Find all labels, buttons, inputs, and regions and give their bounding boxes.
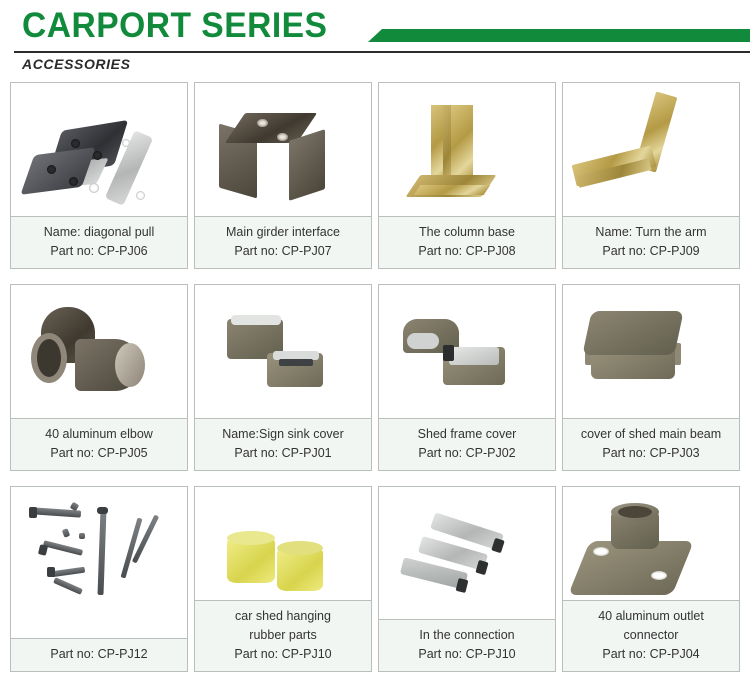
product-caption: Name:Sign sink cover Part no: CP-PJ01 [195, 419, 371, 470]
product-caption: 40 aluminum elbow Part no: CP-PJ05 [11, 419, 187, 470]
product-caption: Main girder interface Part no: CP-PJ07 [195, 217, 371, 268]
product-row: 40 aluminum elbow Part no: CP-PJ05 Name:… [0, 284, 750, 471]
product-part-no: Part no: CP-PJ03 [567, 444, 735, 463]
product-image-in-the-connection [379, 487, 555, 620]
product-name: Shed frame cover [383, 425, 551, 444]
product-image-aluminum-elbow [11, 285, 187, 419]
product-caption: Shed frame cover Part no: CP-PJ02 [379, 419, 555, 470]
header-divider [14, 51, 750, 53]
product-image-shed-frame-cover [379, 285, 555, 419]
product-caption: 40 aluminum outlet connector Part no: CP… [563, 601, 739, 671]
product-part-no: Part no: CP-PJ10 [383, 645, 551, 664]
product-card-shed-frame-cover[interactable]: Shed frame cover Part no: CP-PJ02 [378, 284, 556, 471]
product-image-turn-the-arm [563, 83, 739, 217]
product-part-no: Part no: CP-PJ10 [199, 645, 367, 664]
product-part-no: Part no: CP-PJ06 [15, 242, 183, 261]
product-name: 40 aluminum elbow [15, 425, 183, 444]
product-image-main-girder-interface [195, 83, 371, 217]
product-caption: cover of shed main beam Part no: CP-PJ03 [563, 419, 739, 470]
product-grid: Name: diagonal pull Part no: CP-PJ06 Mai… [0, 82, 750, 687]
product-card-sign-sink-cover[interactable]: Name:Sign sink cover Part no: CP-PJ01 [194, 284, 372, 471]
section-label: ACCESSORIES [22, 55, 131, 73]
product-caption: car shed hanging rubber parts Part no: C… [195, 601, 371, 671]
product-card-aluminum-elbow[interactable]: 40 aluminum elbow Part no: CP-PJ05 [10, 284, 188, 471]
product-card-diagonal-pull[interactable]: Name: diagonal pull Part no: CP-PJ06 [10, 82, 188, 269]
product-part-no: Part no: CP-PJ08 [383, 242, 551, 261]
product-caption: Name: diagonal pull Part no: CP-PJ06 [11, 217, 187, 268]
product-name: Name: Turn the arm [567, 223, 735, 242]
product-name: 40 aluminum outlet connector [581, 607, 721, 645]
product-image-sign-sink-cover [195, 285, 371, 419]
product-card-cover-of-shed-main-beam[interactable]: cover of shed main beam Part no: CP-PJ03 [562, 284, 740, 471]
product-image-cover-of-shed-main-beam [563, 285, 739, 419]
product-name: car shed hanging rubber parts [218, 607, 348, 645]
product-caption: Part no: CP-PJ12 [11, 639, 187, 671]
product-caption: The column base Part no: CP-PJ08 [379, 217, 555, 268]
product-card-in-the-connection[interactable]: In the connection Part no: CP-PJ10 [378, 486, 556, 672]
product-card-aluminum-outlet-connector[interactable]: 40 aluminum outlet connector Part no: CP… [562, 486, 740, 672]
product-part-no: Part no: CP-PJ09 [567, 242, 735, 261]
product-caption: In the connection Part no: CP-PJ10 [379, 620, 555, 671]
product-image-bolts-and-screws [11, 487, 187, 639]
product-image-car-shed-hanging-rubber-parts [195, 487, 371, 601]
product-part-no: Part no: CP-PJ02 [383, 444, 551, 463]
product-name: Name:Sign sink cover [199, 425, 367, 444]
product-name: Name: diagonal pull [15, 223, 183, 242]
product-row: Name: diagonal pull Part no: CP-PJ06 Mai… [0, 82, 750, 269]
product-part-no: Part no: CP-PJ05 [15, 444, 183, 463]
product-card-turn-the-arm[interactable]: Name: Turn the arm Part no: CP-PJ09 [562, 82, 740, 269]
product-name: cover of shed main beam [567, 425, 735, 444]
product-part-no: Part no: CP-PJ07 [199, 242, 367, 261]
product-name: Main girder interface [199, 223, 367, 242]
header-accent-bar [368, 29, 750, 42]
product-part-no: Part no: CP-PJ01 [199, 444, 367, 463]
product-name: In the connection [383, 626, 551, 645]
product-image-aluminum-outlet-connector [563, 487, 739, 601]
product-part-no: Part no: CP-PJ12 [15, 645, 183, 664]
product-caption: Name: Turn the arm Part no: CP-PJ09 [563, 217, 739, 268]
product-name: The column base [383, 223, 551, 242]
product-part-no: Part no: CP-PJ04 [567, 645, 735, 664]
product-card-main-girder-interface[interactable]: Main girder interface Part no: CP-PJ07 [194, 82, 372, 269]
product-card-car-shed-hanging-rubber-parts[interactable]: car shed hanging rubber parts Part no: C… [194, 486, 372, 672]
product-image-diagonal-pull [11, 83, 187, 217]
product-card-bolts-and-screws[interactable]: Part no: CP-PJ12 [10, 486, 188, 672]
product-card-column-base[interactable]: The column base Part no: CP-PJ08 [378, 82, 556, 269]
page-header: CARPORT SERIES ACCESSORIES [0, 0, 750, 48]
page-title: CARPORT SERIES [22, 6, 327, 46]
product-row: Part no: CP-PJ12 car shed hanging rubber… [0, 486, 750, 672]
product-image-column-base [379, 83, 555, 217]
